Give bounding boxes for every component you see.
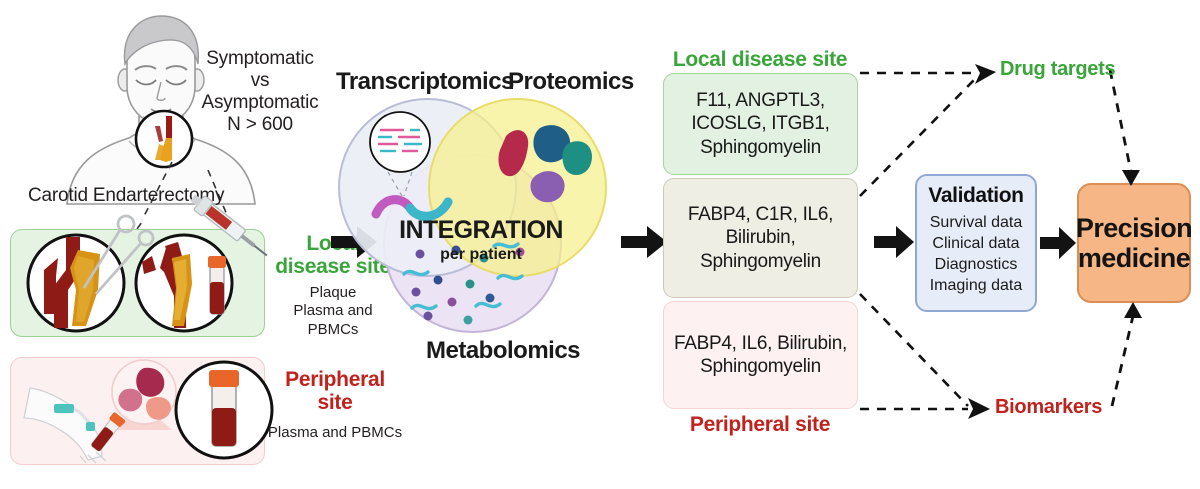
integration-label: INTEGRATION per patient xyxy=(366,216,596,264)
biomarkers-label: Biomarkers xyxy=(995,396,1102,419)
integration-subtitle: per patient xyxy=(366,246,596,264)
integration-title: INTEGRATION xyxy=(366,216,596,245)
drug-targets-label: Drug targets xyxy=(1000,58,1115,81)
figure-canvas: Symptomatic vs Asymptomatic N > 600 Caro… xyxy=(0,0,1200,489)
